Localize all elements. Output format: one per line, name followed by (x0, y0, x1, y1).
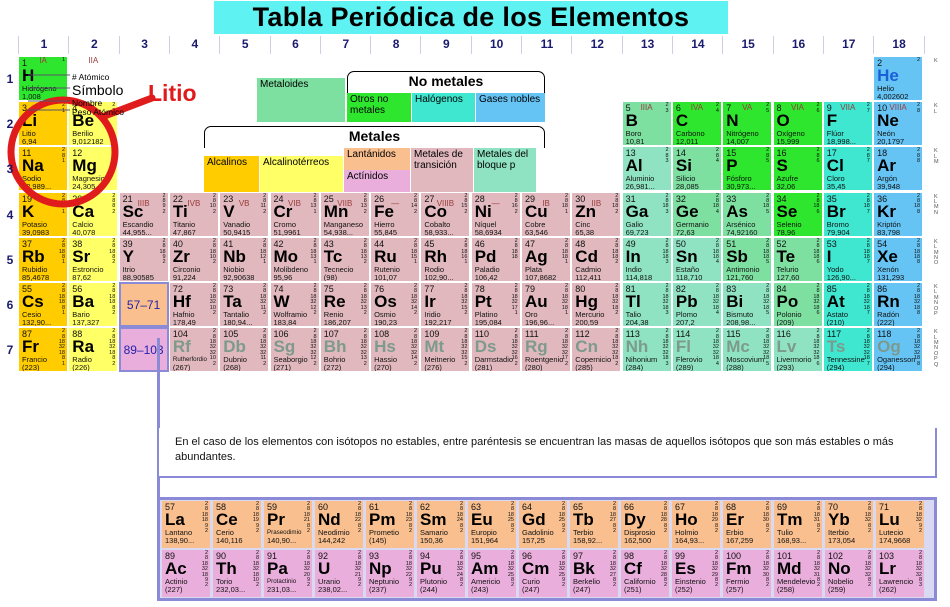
group-roman-16: VIA (773, 103, 823, 112)
element-atomic-mass: 58,6934 (475, 229, 502, 237)
element-atomic-mass: 101,07 (374, 274, 397, 282)
element-cell-Zr[interactable]: 40ZrCirconio91,2242818102 (169, 237, 219, 282)
element-shell-config: 28186 (813, 194, 819, 216)
element-atomic-mass: 174,9668 (879, 537, 910, 546)
element-cell-Li[interactable]: 3LiLitio6,9421 (18, 101, 68, 146)
element-atomic-mass: 74,92160 (726, 229, 757, 237)
footnote: En el caso de los elementos con isótopos… (157, 428, 937, 478)
element-atomic-mass: 231,03... (267, 586, 296, 595)
element-shell-config: 28183232102 (210, 329, 216, 367)
element-atomic-mass: (271) (274, 364, 292, 372)
element-atomic-mass: 200,59 (575, 319, 598, 327)
element-cell-Cn[interactable]: 112CnCopernicio(285)28183232182 (571, 327, 621, 372)
element-cell-Rh[interactable]: 45RhRodio102,90...2818161 (420, 237, 470, 282)
element-cell-Re[interactable]: 75ReRenio186,207281832132 (320, 282, 370, 327)
element-atomic-mass: 138,90... (165, 537, 194, 546)
legend-halogenos[interactable]: Halógenos (412, 93, 475, 122)
element-cell-Pa[interactable]: 91PaProtactinio231,03...2818322092 (263, 549, 313, 598)
element-cell-Nd[interactable]: 60NdNeodimio144,24228182282 (314, 500, 364, 549)
element-cell-Ru[interactable]: 44RuRutenio101,072818151 (370, 237, 420, 282)
element-atomic-mass: 65,38 (575, 229, 594, 237)
element-atomic-mass: (227) (165, 586, 183, 595)
shell-letters-period-2: KL (934, 104, 938, 115)
element-symbol: In (626, 247, 641, 266)
element-atomic-mass: 15,999 (777, 138, 800, 146)
element-shell-config: 2818321892 (202, 551, 208, 589)
element-symbol: No (828, 559, 851, 578)
element-symbol: Ac (165, 559, 187, 578)
element-cell-Y[interactable]: 39YItrio88,90585281892 (119, 237, 169, 282)
element-symbol: Ne (877, 111, 899, 130)
element-shell-config: 281832181 (562, 284, 568, 316)
group-roman-4: IVB (169, 199, 219, 208)
element-cell-Gd[interactable]: 64GdGadolinio157,2528182592 (518, 500, 568, 549)
element-atomic-mass: (98) (324, 274, 337, 282)
element-shell-config: 28182782 (610, 502, 616, 534)
element-cell-At[interactable]: 85AtAstato(210)281832187 (823, 282, 873, 327)
element-cell-Ca[interactable]: 20CaCalcio40,0782882 (68, 192, 118, 237)
legend-alcalinotérreos[interactable]: Alcalinotérreos (260, 156, 343, 192)
element-atomic-mass: 127,60 (777, 274, 800, 282)
element-atomic-mass: 158,92... (573, 537, 602, 546)
element-cell-Ag[interactable]: 47AgPlata107,86822818181 (521, 237, 571, 282)
element-cell-Sb[interactable]: 51SbAntimonio121,7602818185 (722, 237, 772, 282)
element-shell-config: 2818131 (310, 239, 316, 266)
element-cell-Db[interactable]: 105DbDubnio(268)28183232112 (219, 327, 269, 372)
element-atomic-mass: 140,90... (267, 537, 296, 546)
element-atomic-mass: (223) (22, 364, 40, 372)
element-cell-Lu[interactable]: 71LuLutecio174,966828183292 (875, 500, 925, 549)
element-cell-Xe[interactable]: 54XeXenón131,2932818188 (873, 237, 923, 282)
element-shell-config: 28183232132 (361, 329, 367, 367)
element-atomic-mass: 144,242 (318, 537, 345, 546)
element-shell-config: 2818188 (914, 239, 920, 266)
element-atomic-mass: 232,03... (216, 586, 245, 595)
element-cell-Al[interactable]: 13AlAluminio26,981...283 (622, 146, 672, 191)
element-atomic-mass: 196,96... (525, 319, 554, 327)
element-shell-config: 2818322192 (355, 551, 361, 589)
element-shell-config: 2818102 (210, 239, 216, 266)
element-symbol: Cn (575, 337, 598, 356)
element-atomic-mass: 157,25 (522, 537, 545, 546)
element-atomic-mass: 106,42 (475, 274, 498, 282)
element-atomic-mass: 131,293 (877, 274, 904, 282)
element-shell-config: 28183218102 (253, 551, 259, 589)
element-symbol: Re (324, 292, 346, 311)
element-cell-S[interactable]: 16SAzufre32,06286 (773, 146, 823, 191)
group-roman-14: IVA (672, 103, 722, 112)
element-cell-Ds[interactable]: 110DsDarmstadio(281)28183232162 (471, 327, 521, 372)
element-symbol: Hs (374, 337, 396, 356)
element-cell-Pr[interactable]: 59PrPraseodimio140,90...28182182 (263, 500, 313, 549)
element-cell-Si[interactable]: 14SiSilicio28,085284 (672, 146, 722, 191)
element-cell-Ac[interactable]: 89AcActinio(227)2818321892 (161, 549, 211, 598)
element-atomic-mass: 6,94 (22, 138, 37, 146)
element-cell-Ba[interactable]: 56BaBario137,32728181882 (68, 282, 118, 327)
element-symbol: Am (471, 559, 498, 578)
element-symbol: Au (525, 292, 548, 311)
element-atomic-mass: 173,054 (828, 537, 855, 546)
element-atomic-mass: 35,45 (827, 183, 846, 191)
group-roman-18: VIIIA (873, 103, 923, 112)
element-symbol: Tm (777, 510, 803, 529)
element-symbol: Gd (522, 510, 546, 529)
element-atomic-mass: 4,002602 (877, 93, 908, 101)
element-cell-Og[interactable]: 118OgOganesson(294)28183232188 (873, 327, 923, 372)
element-cell-Ga[interactable]: 31GaGalio69,72328183 (622, 192, 672, 237)
element-cell-Pm[interactable]: 61PmPrometio(145)28182382 (365, 500, 415, 549)
element-cell-U[interactable]: 92UUranio238,02...2818322192 (314, 549, 364, 598)
element-symbol: Lv (777, 337, 797, 356)
group-number-1: 1 (18, 36, 69, 54)
element-symbol: N (726, 111, 738, 130)
group-number-5: 5 (219, 36, 270, 54)
element-atomic-mass: 87,62 (72, 274, 91, 282)
element-cell-W[interactable]: 74WWolframio183,84281832122 (270, 282, 320, 327)
element-cell-In[interactable]: 49InIndio114,8182818183 (622, 237, 672, 282)
group-number-7: 7 (320, 36, 371, 54)
element-shell-config: 28181881 (59, 284, 65, 316)
group-roman-8: — (370, 199, 420, 208)
group-roman-6: VIB (270, 199, 320, 208)
element-cell-Ho[interactable]: 67HoHolmio164,93...28182982 (671, 500, 721, 549)
element-cell-Ar[interactable]: 18ArArgón39,948288 (873, 146, 923, 191)
element-atomic-mass: 102,90... (424, 274, 453, 282)
element-atomic-mass: 83,798 (877, 229, 900, 237)
element-symbol: Si (676, 156, 692, 175)
element-atomic-mass: 126,90... (827, 274, 856, 282)
element-shell-config: 281832183 (662, 284, 668, 316)
element-symbol: Yb (828, 510, 850, 529)
element-symbol: As (726, 202, 748, 221)
element-atomic-mass: 95,96 (274, 274, 293, 282)
element-cell-Pb[interactable]: 82PbPlomo207,2281832184 (672, 282, 722, 327)
element-cell-Lv[interactable]: 116LvLivermorio(293)28183232186 (773, 327, 823, 372)
element-atomic-mass: (210) (827, 319, 845, 327)
element-atomic-mass: 44,955... (123, 229, 152, 237)
element-shell-config: 2818322982 (712, 551, 718, 589)
element-atomic-mass: (288) (726, 364, 744, 372)
group-roman-3: IIIB (119, 199, 169, 208)
element-symbol: Rb (22, 247, 45, 266)
element-cell-Md[interactable]: 101MdMendelevio(258)2818323182 (773, 549, 823, 598)
element-atomic-mass: 121,760 (726, 274, 753, 282)
group-roman-13: IIIA (622, 103, 672, 112)
element-symbol: Hg (575, 292, 598, 311)
element-shell-config: 28183232162 (512, 329, 518, 367)
element-cell-Ta[interactable]: 73TaTantalio180,94...281832112 (219, 282, 269, 327)
element-atomic-mass: 91,224 (173, 274, 196, 282)
group-number-14: 14 (672, 36, 723, 54)
element-symbol: B (626, 111, 638, 130)
element-symbol: Es (675, 559, 696, 578)
group-number-2: 2 (68, 36, 119, 54)
series-range-lanthanide[interactable]: 57–71 (119, 282, 169, 327)
element-cell-Np[interactable]: 93NpNeptunio(237)2818322292 (365, 549, 415, 598)
legend-alcalinos[interactable]: Alcalinos (204, 156, 259, 192)
element-cell-Lr[interactable]: 103LrLawrencio(262)2818323283 (875, 549, 925, 598)
group-roman-9: VIIIB (420, 199, 470, 208)
element-atomic-mass: (284) (626, 364, 644, 372)
element-shell-config: 281892 (159, 239, 165, 266)
element-atomic-mass: (252) (675, 586, 693, 595)
element-shell-config: 2818161 (461, 239, 467, 266)
element-cell-Cf[interactable]: 98CfCalifornio(251)2818322882 (620, 549, 670, 598)
shell-letters-period-4: KLMN (934, 195, 939, 217)
element-cell-Sg[interactable]: 106SgSeaborgio(271)28183232122 (270, 327, 320, 372)
element-symbol: F (827, 111, 837, 130)
element-shell-config: 281832171 (512, 284, 518, 316)
element-symbol: K (22, 202, 34, 221)
element-shell-config: 28183232112 (260, 329, 266, 367)
element-symbol: Bh (324, 337, 347, 356)
element-atomic-mass: (251) (624, 586, 642, 595)
element-atomic-mass: 137,327 (72, 319, 99, 327)
element-symbol: Os (374, 292, 397, 311)
element-symbol: Bk (573, 559, 595, 578)
element-cell-Nb[interactable]: 41NbNiobio92,906382818121 (219, 237, 269, 282)
element-symbol: Cm (522, 559, 549, 578)
element-cell-Tm[interactable]: 69TmTulio168,93...28183182 (773, 500, 823, 549)
element-symbol: Sr (72, 247, 90, 266)
element-cell-Fm[interactable]: 100FmFermio(257)2818323082 (722, 549, 772, 598)
element-shell-config: 281832122 (310, 284, 316, 316)
element-atomic-mass: 55,845 (374, 229, 397, 237)
group-roman-17: VIIA (823, 103, 873, 112)
element-atomic-mass: (226) (72, 364, 90, 372)
element-atomic-mass: 178,49 (173, 319, 196, 327)
element-cell-Sm[interactable]: 62SmSamario150,3628182482 (416, 500, 466, 549)
element-shell-config: 2818321882 (109, 329, 115, 367)
element-cell-Ir[interactable]: 77IrIridio192,217281832152 (420, 282, 470, 327)
element-cell-Dy[interactable]: 66DyDisprosio162,50028182882 (620, 500, 670, 549)
element-cell-Tl[interactable]: 81TlTalio204,38281832183 (622, 282, 672, 327)
element-symbol: Pb (676, 292, 698, 311)
group-number-15: 15 (722, 36, 773, 54)
element-cell-Th[interactable]: 90ThTorio232,03...28183218102 (212, 549, 262, 598)
element-symbol: Y (123, 247, 134, 266)
element-cell-Tb[interactable]: 65TbTerbio158,92...28182782 (569, 500, 619, 549)
element-cell-Es[interactable]: 99EsEinstenio(252)2818322982 (671, 549, 721, 598)
element-cell-Nh[interactable]: 113NhNihonium(284)28183232183 (622, 327, 672, 372)
element-cell-Au[interactable]: 79AuOro196,96...281832181 (521, 282, 571, 327)
element-symbol: He (877, 66, 899, 85)
element-shell-config: 28187 (864, 194, 870, 216)
element-cell-Ge[interactable]: 32GeGermanio72,6328184 (672, 192, 722, 237)
element-atomic-mass: 10,81 (626, 138, 645, 146)
element-atomic-mass: (276) (424, 364, 442, 372)
element-cell-As[interactable]: 33AsArsénico74,9216028185 (722, 192, 772, 237)
element-shell-config: 281832187 (864, 284, 870, 316)
element-cell-Rg[interactable]: 111RgRoentgenio(280)28183232172 (521, 327, 571, 372)
element-shell-config: 282 (112, 148, 115, 164)
element-cell-He[interactable]: 2HeHelio4,0026022 (873, 56, 923, 101)
group-roman-1: IA (18, 56, 68, 65)
element-atomic-mass: 58,933... (424, 229, 453, 237)
element-cell-No[interactable]: 102NoNobelio(259)2818323282 (824, 549, 874, 598)
element-cell-Os[interactable]: 76OsOsmio190,23281832142 (370, 282, 420, 327)
element-symbol: Mo (274, 247, 299, 266)
element-shell-config: 28182582 (508, 502, 514, 534)
element-cell-Br[interactable]: 35BrBromo79,90428187 (823, 192, 873, 237)
element-atomic-mass: 114,818 (626, 274, 653, 282)
element-symbol: Cf (624, 559, 642, 578)
element-symbol: Tc (324, 247, 343, 266)
element-cell-Hs[interactable]: 108HsHassio(270)28183232142 (370, 327, 420, 372)
element-cell-Ra[interactable]: 88RaRadio(226)2818321882 (68, 327, 118, 372)
legend-metales-transicion[interactable]: Metales de transición (411, 148, 473, 192)
element-symbol: Ho (675, 510, 698, 529)
legend-gases-nobles[interactable]: Gases nobles (476, 93, 545, 122)
period-number-5: 5 (2, 253, 18, 267)
element-symbol: Pm (369, 510, 395, 529)
element-shell-config: 28183232122 (310, 329, 316, 367)
element-cell-Mc[interactable]: 115McMoscovium(288)28183232185 (722, 327, 772, 372)
element-atomic-mass: (294) (827, 364, 845, 372)
element-cell-K[interactable]: 19KPotasio39,09832881 (18, 192, 68, 237)
element-cell-Te[interactable]: 52TeTelurio127,602818186 (773, 237, 823, 282)
element-shell-config: 2818322092 (304, 551, 310, 589)
element-cell-Hf[interactable]: 72HfHafnio178,49281832102 (169, 282, 219, 327)
element-cell-Mg[interactable]: 12MgMagnesio24,305282 (68, 146, 118, 191)
element-atomic-mass: (222) (877, 319, 895, 327)
group-roman-11: IB (521, 199, 571, 208)
element-cell-Yb[interactable]: 70YbIterbio173,05428183282 (824, 500, 874, 549)
element-cell-Na[interactable]: 11NaSodio22,989...281 (18, 146, 68, 191)
series-range-actinide[interactable]: 89–103 (119, 327, 169, 372)
metales-title: Metales (204, 128, 545, 144)
element-shell-config: 285 (766, 148, 769, 164)
element-symbol: Tl (626, 292, 641, 311)
key-atomic-number-label: # Atómico (72, 72, 109, 82)
element-symbol: Eu (471, 510, 493, 529)
element-symbol: Ba (72, 292, 94, 311)
element-shell-config: 281832186 (813, 284, 819, 316)
legend-actinidos[interactable]: Actínidos (344, 170, 410, 192)
element-cell-Mt[interactable]: 109MtMeitnerio(276)28183232152 (420, 327, 470, 372)
legend-otros-no-metales[interactable]: Otros no metales (347, 93, 411, 122)
element-shell-config: 281882 (109, 239, 115, 266)
element-cell-Po[interactable]: 84PoPolonio(209)281832186 (773, 282, 823, 327)
element-atomic-mass: (258) (777, 586, 795, 595)
element-atomic-mass: 151,964 (471, 537, 498, 546)
element-cell-Cm[interactable]: 96CmCurio(247)2818322592 (518, 549, 568, 598)
element-shell-config: 286 (816, 148, 819, 164)
element-cell-Ce[interactable]: 58CeCerio140,11628181992 (212, 500, 262, 549)
group-number-header: 123456789101112131415161718 (18, 36, 932, 54)
element-shell-config: 2818181 (562, 239, 568, 266)
element-shell-config: 28182382 (406, 502, 412, 534)
element-cell-Ts[interactable]: 117TsTennessine(294)28183232187 (823, 327, 873, 372)
element-cell-Sn[interactable]: 50SnEstaño118,7102818184 (672, 237, 722, 282)
element-atomic-mass: 132,90... (22, 319, 51, 327)
element-shell-config: 281832184 (713, 284, 719, 316)
element-cell-La[interactable]: 57LaLantano138,90...28181892 (161, 500, 211, 549)
element-shell-config: 28183232185 (763, 329, 769, 367)
element-shell-config: 28181892 (202, 502, 208, 534)
element-atomic-mass: (294) (877, 364, 895, 372)
element-cell-Tc[interactable]: 43TcTecnecio(98)2818132 (320, 237, 370, 282)
element-cell-Pu[interactable]: 94PuPlutonio(244)2818322482 (416, 549, 466, 598)
element-cell-Bk[interactable]: 97BkBerkelio(247)2818322782 (569, 549, 619, 598)
legend-metaloides[interactable]: Metaloides (257, 78, 345, 122)
element-shell-config: 28183232142 (411, 329, 417, 367)
legend-lantanidos[interactable]: Lantánidos (344, 148, 410, 170)
element-cell-Rf[interactable]: 104RfRutherfordio(267)28183232102 (169, 327, 219, 372)
element-shell-config: 2818322882 (661, 551, 667, 589)
element-symbol: Fm (726, 559, 752, 578)
element-cell-Eu[interactable]: 63EuEuropio151,96428182582 (467, 500, 517, 549)
element-cell-Sr[interactable]: 38SrEstroncio87,62281882 (68, 237, 118, 282)
element-symbol: Po (777, 292, 799, 311)
element-cell-Fr[interactable]: 87FrFrancio(223)2818321881 (18, 327, 68, 372)
element-atomic-mass: 186,207 (324, 319, 351, 327)
element-symbol: Cd (575, 247, 598, 266)
element-cell-P[interactable]: 15PFósforo30,973...285 (722, 146, 772, 191)
element-shell-config: 2818132 (361, 239, 367, 266)
group-roman-10: — (471, 199, 521, 208)
element-cell-Mo[interactable]: 42MoMolibdeno95,962818131 (270, 237, 320, 282)
element-atomic-mass: (237) (369, 586, 387, 595)
group-number-9: 9 (420, 36, 471, 54)
element-symbol: Lu (879, 510, 900, 529)
element-atomic-mass: 30,973... (726, 183, 755, 191)
element-shell-config: 2882 (112, 194, 115, 216)
element-cell-Rn[interactable]: 86RnRadón(222)281832188 (873, 282, 923, 327)
element-symbol: Cs (22, 292, 44, 311)
element-cell-Fl[interactable]: 114FlFlerovio(289)28183232184 (672, 327, 722, 372)
element-cell-I[interactable]: 53IYodo126,90...2818187 (823, 237, 873, 282)
element-cell-Se[interactable]: 34SeSelenio78,9628186 (773, 192, 823, 237)
element-shell-config: 28183 (662, 194, 668, 216)
element-atomic-mass: (257) (726, 586, 744, 595)
element-symbol: Ru (374, 247, 397, 266)
element-atomic-mass: 9,012182 (72, 138, 103, 146)
element-atomic-mass: 26,981... (626, 183, 655, 191)
element-cell-Hg[interactable]: 80HgMercurio200,59281832182 (571, 282, 621, 327)
element-shell-config: 2818185 (763, 239, 769, 266)
element-atomic-mass: 14,007 (726, 138, 749, 146)
element-cell-Pd[interactable]: 46PdPaladio106,42281818 (471, 237, 521, 282)
element-atomic-mass: 54,938... (324, 229, 353, 237)
period-number-7: 7 (2, 343, 18, 357)
element-atomic-mass: 72,63 (676, 229, 695, 237)
element-cell-Bh[interactable]: 107BhBohrio(272)28183232132 (320, 327, 370, 372)
element-cell-Am[interactable]: 95AmAmericio(243)2818322582 (467, 549, 517, 598)
element-symbol: Ds (475, 337, 497, 356)
element-cell-Kr[interactable]: 36KrKriptón83,79828188 (873, 192, 923, 237)
element-symbol: Ca (72, 202, 94, 221)
element-shell-config: 2818322582 (508, 551, 514, 589)
element-atomic-mass: (243) (471, 586, 489, 595)
element-atomic-mass: 92,90638 (223, 274, 254, 282)
element-symbol: Sn (676, 247, 698, 266)
element-cell-Bi[interactable]: 83BiBismuto208,98...281832185 (722, 282, 772, 327)
element-cell-Rb[interactable]: 37RbRubidio85,4678281881 (18, 237, 68, 282)
element-cell-Pt[interactable]: 78PtPlatino195,084281832171 (471, 282, 521, 327)
legend-metales-bloque-p[interactable]: Metales del bloque p (474, 148, 536, 192)
element-symbol: Er (726, 510, 744, 529)
element-shell-config: 28183232187 (864, 329, 870, 367)
element-cell-Er[interactable]: 68ErErbio167,25928183082 (722, 500, 772, 549)
element-atomic-mass: 167,259 (726, 537, 753, 546)
element-cell-Cl[interactable]: 17ClCloro35,45287 (823, 146, 873, 191)
element-cell-Cs[interactable]: 55CsCesio132,90...28181881 (18, 282, 68, 327)
group-roman-15: VA (722, 103, 772, 112)
element-symbol: Rh (424, 247, 447, 266)
element-atomic-mass: (270) (374, 364, 392, 372)
element-cell-Cd[interactable]: 48CdCadmio112,4112818182 (571, 237, 621, 282)
